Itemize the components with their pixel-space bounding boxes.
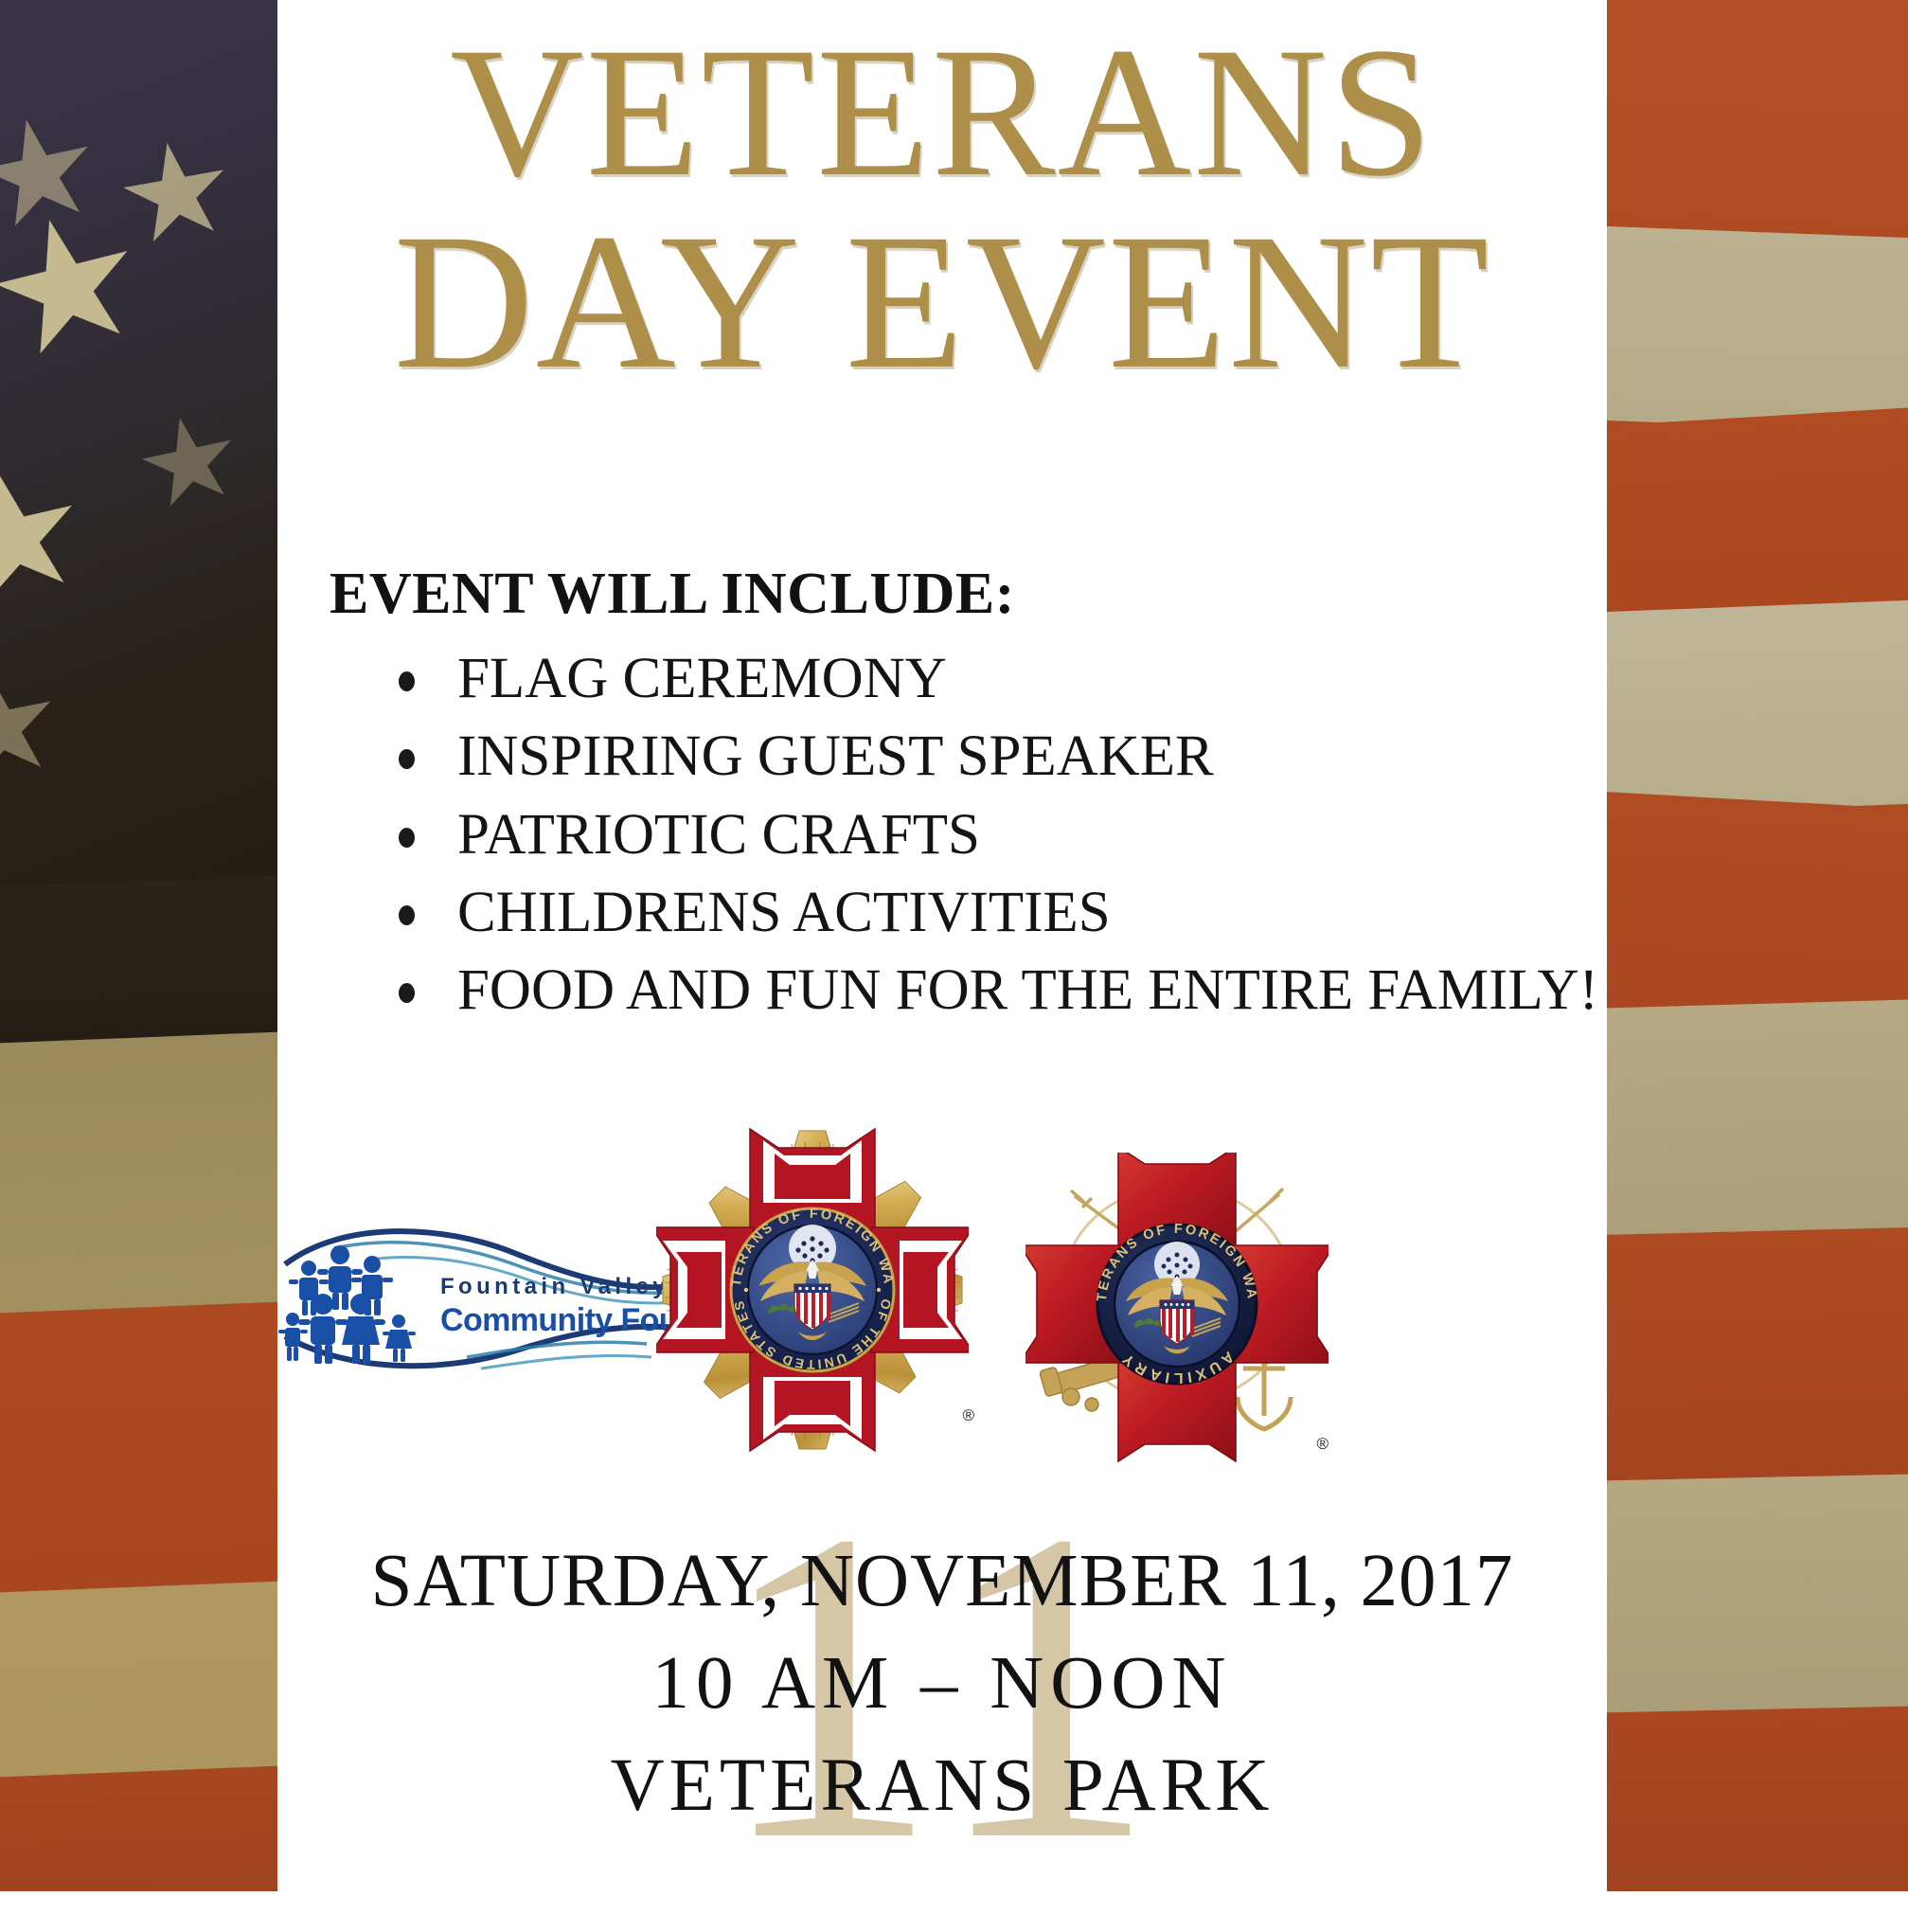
event-date: SATURDAY, NOVEMBER 11, 2017 [277,1539,1607,1624]
event-location: VETERANS PARK [277,1744,1607,1829]
flag-stripe [1605,224,1908,435]
flag-right-stripes-region [1605,0,1908,1891]
flag-stripe [1605,1473,1908,1718]
flag-stripe [1605,1705,1908,1891]
list-item: FLAG CEREMONY [391,645,1607,712]
flag-stripe [0,1029,279,1319]
flag-stripe [1605,599,1908,818]
flag-stripe [1605,998,1908,1246]
flag-stripe [0,1579,279,1783]
event-includes-section: EVENT WILL INCLUDE: FLAG CEREMONY INSPIR… [277,561,1607,1035]
event-includes-list: FLAG CEREMONY INSPIRING GUEST SPEAKER PA… [277,645,1607,1025]
list-item: FOOD AND FUN FOR THE ENTIRE FAMILY! [391,957,1607,1024]
flag-stripe [0,873,279,1049]
list-item: PATRIOTIC CRAFTS [391,801,1607,868]
flag-canton [0,0,279,957]
vfw-auxiliary-registered-mark: ® [1316,1435,1328,1454]
vfw-emblem-icon: VETERANS OF FOREIGN WARS OF THE UNITED S… [656,1127,969,1454]
event-includes-heading: EVENT WILL INCLUDE: [330,561,1607,628]
sponsor-logos: Fountain Valley Community Foundation [277,1132,1607,1454]
flag-stripe [1605,404,1908,633]
vfw-auxiliary-emblem-graphic: VETERANS OF FOREIGN WARS AUXILIARY [1025,1153,1328,1465]
title-line-2: DAY EVENT [277,212,1607,393]
event-time: 10 AM – NOON [277,1641,1607,1726]
list-item: INSPIRING GUEST SPEAKER [391,723,1607,790]
flag-stripe [1605,1226,1908,1488]
vfw-registered-mark: ® [962,1406,974,1425]
flag-stripe [1605,0,1908,254]
vfw-emblem-graphic: VETERANS OF FOREIGN WARS OF THE UNITED S… [656,1127,969,1454]
vfw-auxiliary-emblem-icon: VETERANS OF FOREIGN WARS AUXILIARY [1025,1153,1328,1465]
flag-stripe [0,1763,279,1891]
flag-left-canton-region [0,0,279,1891]
flag-stripe [1605,789,1908,1030]
event-details: SATURDAY, NOVEMBER 11, 2017 10 AM – NOON… [277,1539,1607,1829]
poster-panel: VETERANS DAY EVENT EVENT WILL INCLUDE: F… [277,0,1607,1891]
page-title: VETERANS DAY EVENT [277,27,1607,393]
flag-stripe [0,1299,279,1599]
list-item: CHILDRENS ACTIVITIES [391,879,1607,946]
title-line-1: VETERANS [277,27,1607,199]
